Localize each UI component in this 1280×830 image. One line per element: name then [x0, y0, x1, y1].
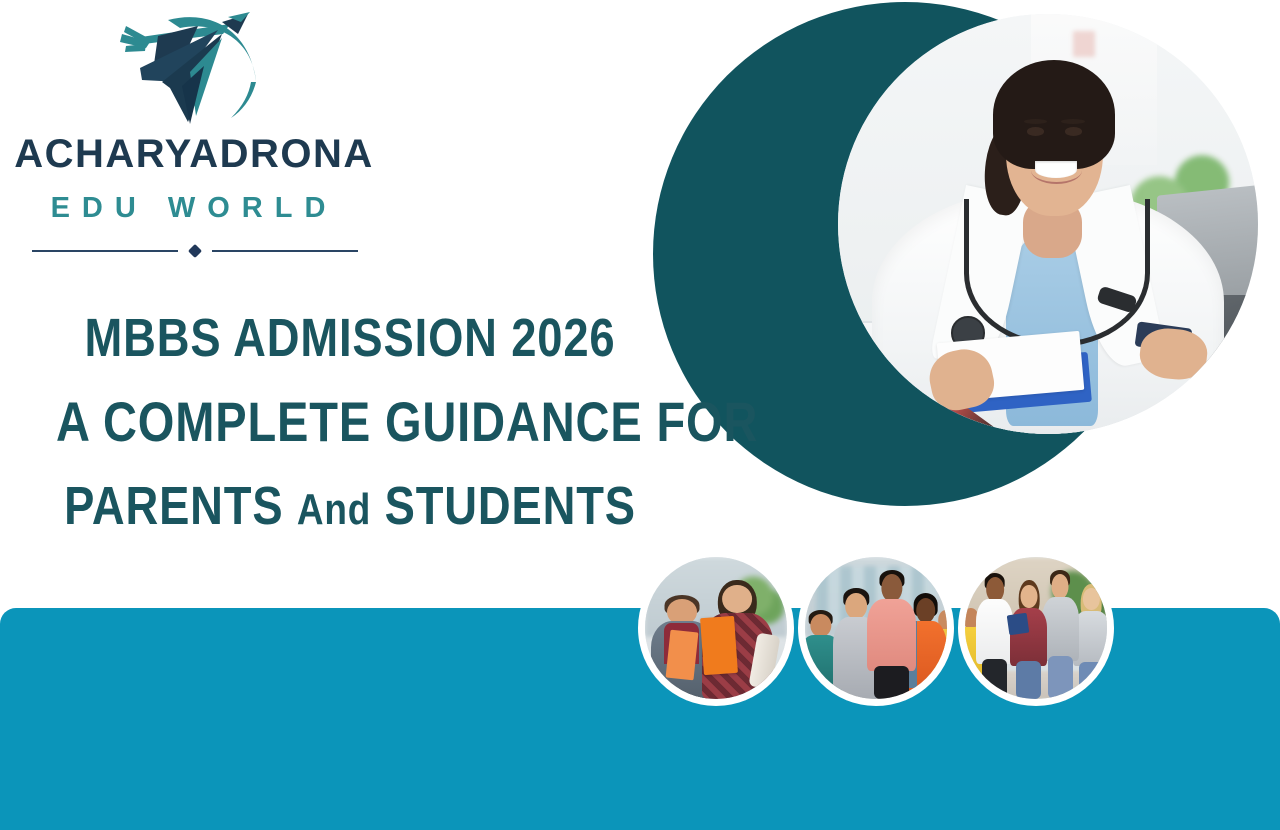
headline-line-1: MBBS ADMISSION 2026	[56, 296, 644, 380]
brand-name: ACHARYADRONA	[14, 134, 374, 174]
promo-banner: ACHARYADRONA EDU WORLD MBBS ADMISSION 20…	[0, 0, 1280, 830]
student-photo-1	[638, 550, 794, 706]
student-photo-2	[798, 550, 954, 706]
headline-line-2: A COMPLETE GUIDANCE FOR	[56, 380, 644, 464]
logo-divider	[32, 245, 358, 257]
headline-line-3-small: And	[297, 485, 371, 534]
student-photo-3	[958, 550, 1114, 706]
headline-line-3-prefix: PARENTS	[64, 476, 297, 536]
brand-logo: ACHARYADRONA EDU WORLD	[14, 8, 374, 258]
hero-doctor-photo	[838, 14, 1258, 434]
headline-block: MBBS ADMISSION 2026 A COMPLETE GUIDANCE …	[0, 296, 700, 552]
headline-line-3: PARENTS And STUDENTS	[56, 464, 644, 552]
brand-tagline: EDU WORLD	[14, 194, 374, 223]
headline-line-3-suffix: STUDENTS	[371, 476, 636, 536]
diamond-icon	[188, 244, 202, 258]
bow-arrow-paper-plane-icon	[110, 12, 280, 130]
